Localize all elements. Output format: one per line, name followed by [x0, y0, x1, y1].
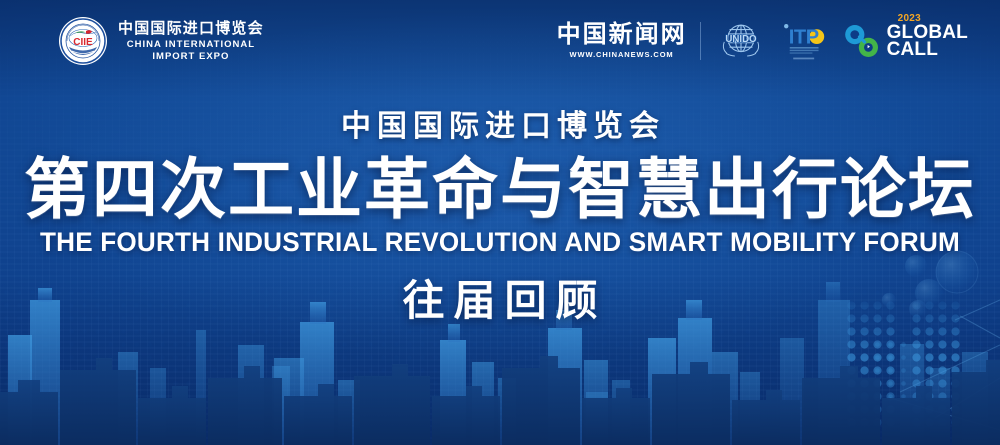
itp-logo-icon: ITP — [781, 18, 829, 64]
chinanews-url: WWW.CHINANEWS.COM — [570, 50, 674, 59]
halftone-dots-small — [873, 340, 913, 398]
ciie-logo-lockup: CIIE 中国国际进口博览会 CHINA INTERNATIONAL IMPOR… — [58, 16, 264, 66]
global-call-word2: CALL — [887, 41, 968, 58]
event-banner: CIIE 中国国际进口博览会 CHINA INTERNATIONAL IMPOR… — [0, 0, 1000, 445]
ciie-emblem-icon: CIIE — [58, 16, 108, 66]
global-call-year: 2023 — [898, 14, 921, 23]
logo-bar: CIIE 中国国际进口博览会 CHINA INTERNATIONAL IMPOR… — [0, 0, 1000, 82]
ciie-name-en-line1: CHINA INTERNATIONAL — [118, 40, 264, 50]
chinanews-logo: 中国新闻网 WWW.CHINANEWS.COM — [557, 23, 687, 59]
forum-title-en: THE FOURTH INDUSTRIAL REVOLUTION AND SMA… — [8, 229, 993, 256]
global-call-icon — [842, 21, 882, 61]
svg-text:ITP: ITP — [788, 27, 818, 49]
partner-logo-group: 中国新闻网 WWW.CHINANEWS.COM UNIDO — [557, 14, 968, 68]
section-label-past-review: 往届回顾 — [9, 280, 1000, 322]
unido-emblem-icon: UNIDO — [714, 19, 768, 63]
ciie-name-cn: 中国国际进口博览会 — [118, 21, 264, 36]
forum-title-cn: 第四次工业革命与智慧出行论坛 — [0, 156, 1000, 222]
svg-text:CIIE: CIIE — [73, 37, 93, 48]
logo-divider — [700, 22, 701, 60]
headline-block: 中国国际进口博览会 第四次工业革命与智慧出行论坛 THE FOURTH INDU… — [0, 112, 1000, 322]
ciie-name-en-line2: IMPORT EXPO — [118, 52, 264, 62]
chinanews-name-cn: 中国新闻网 — [557, 23, 687, 47]
event-kicker: 中国国际进口博览会 — [6, 112, 1000, 142]
global-call-wordmark: 2023 GLOBAL CALL — [887, 24, 968, 59]
svg-text:UNIDO: UNIDO — [725, 34, 757, 45]
global-call-logo: 2023 GLOBAL CALL — [842, 21, 968, 61]
city-skyline-foreground — [0, 356, 1000, 445]
